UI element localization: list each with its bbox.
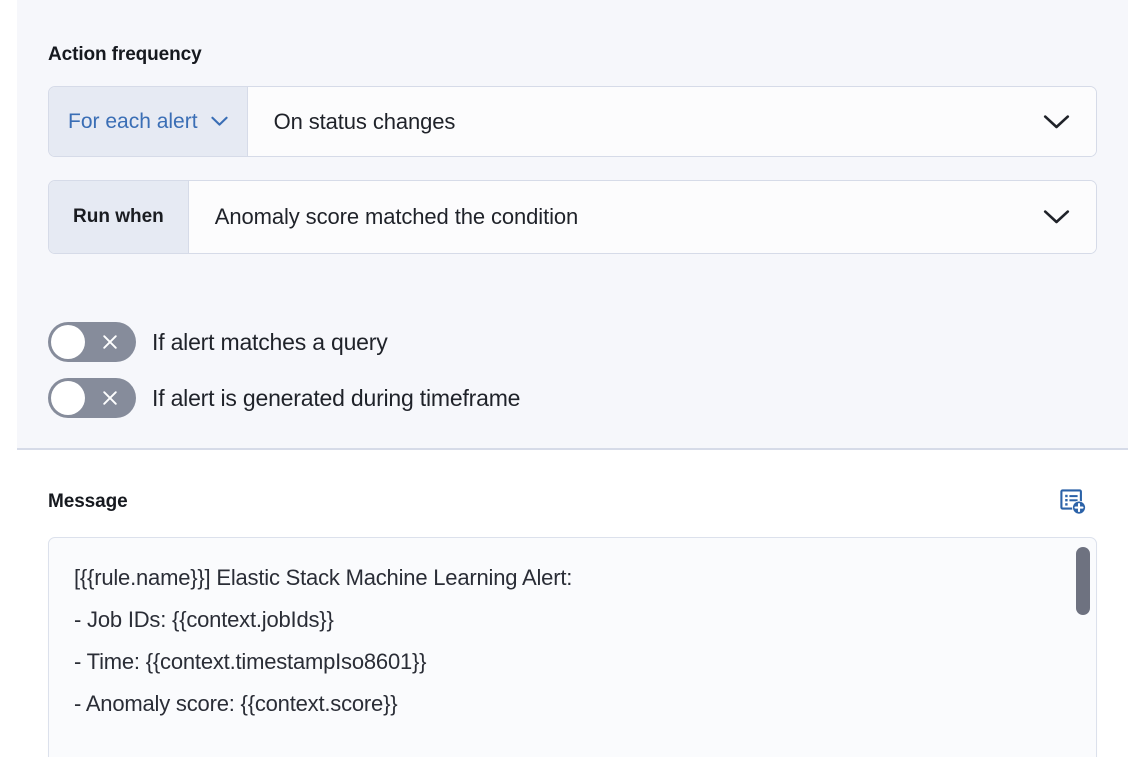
alert-timeframe-toggle[interactable] <box>48 378 136 418</box>
alert-timeframe-toggle-row: If alert is generated during timeframe <box>48 378 520 418</box>
action-frequency-panel: Action frequency For each alert On statu… <box>0 0 1145 757</box>
run-when-prepend: Run when <box>49 181 189 253</box>
scrollbar-thumb[interactable] <box>1076 547 1090 615</box>
toggle-knob <box>51 381 85 415</box>
message-header: Message <box>48 486 1097 518</box>
frequency-select[interactable]: On status changes <box>248 87 1096 156</box>
action-frequency-title: Action frequency <box>48 44 202 66</box>
alert-timeframe-toggle-label: If alert is generated during timeframe <box>152 385 520 412</box>
toggle-knob <box>51 325 85 359</box>
alert-query-toggle-row: If alert matches a query <box>48 322 388 362</box>
action-frequency-section: Action frequency For each alert On statu… <box>17 0 1128 450</box>
message-scrollbar[interactable] <box>1075 541 1091 757</box>
message-title: Message <box>48 491 128 513</box>
message-textarea-wrapper[interactable]: [{{rule.name}}] Elastic Stack Machine Le… <box>48 537 1097 757</box>
panel-container: Action frequency For each alert On statu… <box>17 0 1128 757</box>
for-each-alert-dropdown-button[interactable]: For each alert <box>49 87 248 156</box>
frequency-select-value: On status changes <box>274 109 456 135</box>
alert-query-toggle-label: If alert matches a query <box>152 329 388 356</box>
alert-query-toggle[interactable] <box>48 322 136 362</box>
chevron-down-icon <box>211 116 228 127</box>
run-when-select-row: Run when Anomaly score matched the condi… <box>48 180 1097 254</box>
message-textarea[interactable]: [{{rule.name}}] Elastic Stack Machine Le… <box>74 557 1052 725</box>
close-x-icon <box>101 333 119 351</box>
close-x-icon <box>101 389 119 407</box>
frequency-select-row: For each alert On status changes <box>48 86 1097 157</box>
add-variable-icon[interactable] <box>1057 486 1089 518</box>
run-when-select[interactable]: Anomaly score matched the condition <box>189 181 1096 253</box>
run-when-label: Run when <box>68 206 169 228</box>
for-each-alert-label: For each alert <box>68 110 198 134</box>
message-section: Message [{{rule.nam <box>17 452 1128 757</box>
run-when-select-value: Anomaly score matched the condition <box>215 204 578 230</box>
